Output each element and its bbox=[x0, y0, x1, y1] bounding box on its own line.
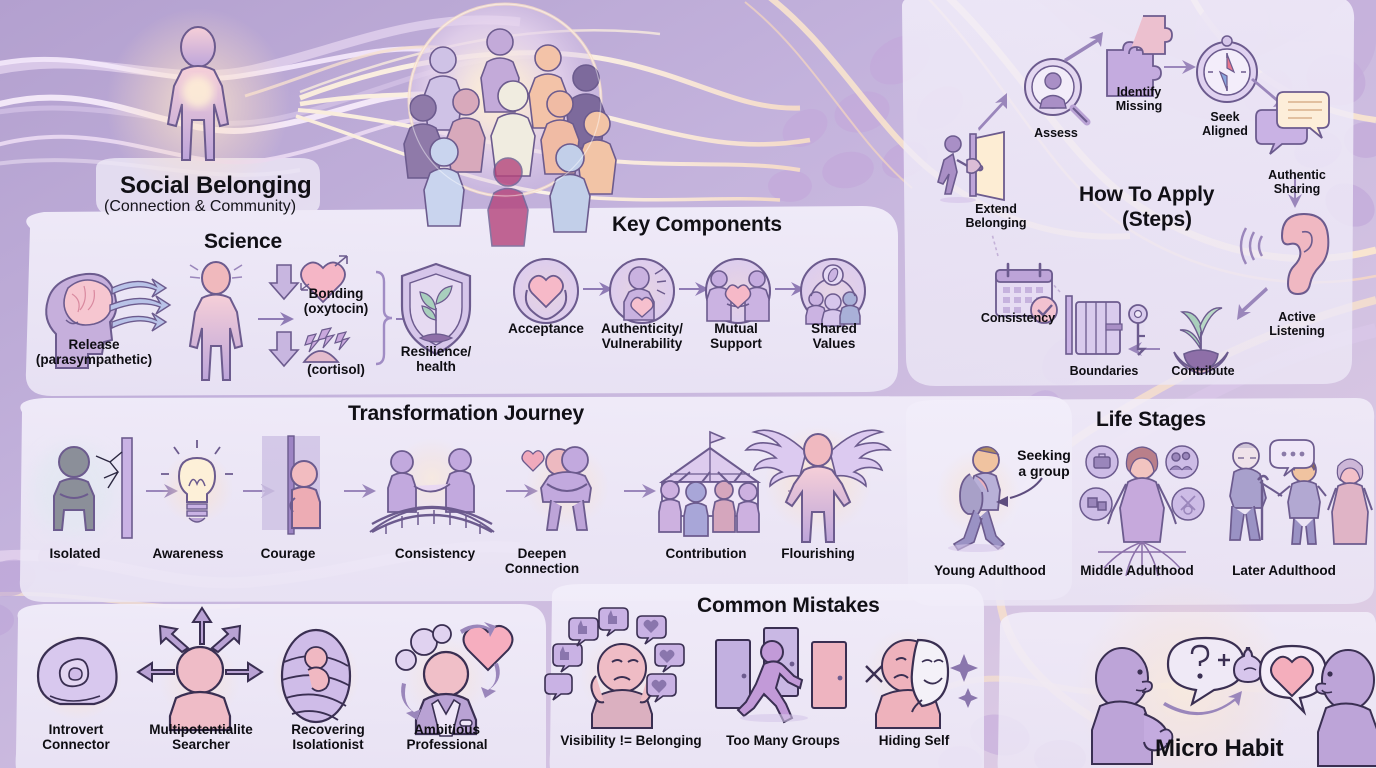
infographic-canvas: Social Belonging (Connection & Community… bbox=[0, 0, 1376, 768]
step-extend-belonging: Extend Belonging bbox=[948, 202, 1044, 230]
science-step-bonding: Bonding (oxytocin) bbox=[286, 286, 386, 316]
how-to-apply-subtitle: (Steps) bbox=[1122, 208, 1192, 232]
persona-recovering-isolationist: Recovering Isolationist bbox=[278, 722, 378, 752]
journey-consistency: Consistency bbox=[386, 546, 484, 561]
journey-deepen-connection: Deepen Connection bbox=[492, 546, 592, 576]
life-stages-title: Life Stages bbox=[1096, 408, 1206, 432]
journey-isolated: Isolated bbox=[30, 546, 120, 561]
mistake-hiding-self: Hiding Self bbox=[866, 733, 962, 748]
step-contribute: Contribute bbox=[1160, 364, 1246, 378]
step-assess: Assess bbox=[1016, 126, 1096, 140]
persona-introvert-connector: Introvert Connector bbox=[28, 722, 124, 752]
step-boundaries: Boundaries bbox=[1060, 364, 1148, 378]
journey-courage: Courage bbox=[246, 546, 330, 561]
persona-multipotentialite-searcher: Multipotentialite Searcher bbox=[142, 722, 260, 752]
step-consistency: Consistency bbox=[970, 311, 1066, 325]
life-stage-middle: Middle Adulthood bbox=[1074, 563, 1200, 578]
key-component-mutual-support: Mutual Support bbox=[692, 321, 780, 351]
key-component-shared-values: Shared Values bbox=[790, 321, 878, 351]
life-stage-later: Later Adulthood bbox=[1222, 563, 1346, 578]
science-step-resilience: Resilience/ health bbox=[386, 344, 486, 374]
transformation-title: Transformation Journey bbox=[348, 402, 584, 426]
step-identify-missing: Identify Missing bbox=[1096, 85, 1182, 113]
key-component-authenticity: Authenticity/ Vulnerability bbox=[588, 321, 696, 351]
how-to-apply-title: How To Apply bbox=[1079, 183, 1214, 207]
journey-contribution: Contribution bbox=[654, 546, 758, 561]
key-component-acceptance: Acceptance bbox=[496, 321, 596, 336]
science-step-release: Release (parasympathetic) bbox=[14, 337, 174, 367]
common-mistakes-title: Common Mistakes bbox=[697, 594, 880, 618]
hero-title: Social Belonging bbox=[120, 172, 311, 200]
step-seek-aligned: Seek Aligned bbox=[1186, 110, 1264, 138]
hero-subtitle: (Connection & Community) bbox=[104, 198, 296, 216]
mistake-visibility: Visibility != Belonging bbox=[548, 733, 714, 748]
micro-habit-title: Micro Habit bbox=[1155, 735, 1283, 763]
science-title: Science bbox=[204, 230, 282, 254]
science-step-cortisol: (cortisol) bbox=[286, 362, 386, 377]
key-components-title: Key Components bbox=[612, 213, 782, 237]
step-authentic-sharing: Authentic Sharing bbox=[1244, 168, 1350, 196]
mistake-too-many-groups: Too Many Groups bbox=[718, 733, 848, 748]
journey-awareness: Awareness bbox=[143, 546, 233, 561]
journey-flourishing: Flourishing bbox=[770, 546, 866, 561]
persona-ambitious-professional: Ambitious Professional bbox=[394, 722, 500, 752]
life-stages-annotation: Seeking a group bbox=[1004, 448, 1084, 479]
life-stage-young: Young Adulthood bbox=[928, 563, 1052, 578]
background-artwork bbox=[0, 0, 1376, 768]
step-active-listening: Active Listening bbox=[1252, 310, 1342, 338]
